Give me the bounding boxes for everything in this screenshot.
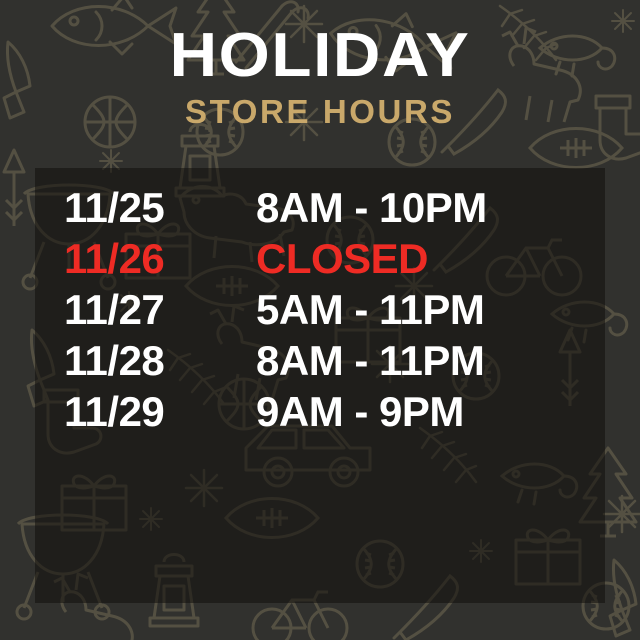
- row-hours: 5AM - 11PM: [256, 286, 484, 334]
- poster-header: HOLIDAY STORE HOURS: [0, 0, 640, 130]
- row-date: 11/26: [64, 235, 256, 283]
- row-date: 11/28: [64, 337, 256, 385]
- row-hours-closed: CLOSED: [256, 235, 428, 283]
- table-row: 11/26 CLOSED: [0, 235, 640, 286]
- holiday-store-hours-poster: HOLIDAY STORE HOURS 11/25 8AM - 10PM 11/…: [0, 0, 640, 640]
- page-subtitle: STORE HOURS: [0, 94, 640, 130]
- row-date: 11/25: [64, 184, 256, 232]
- row-hours: 8AM - 10PM: [256, 184, 487, 232]
- table-row: 11/29 9AM - 9PM: [0, 388, 640, 439]
- row-hours: 9AM - 9PM: [256, 388, 464, 436]
- hours-table: 11/25 8AM - 10PM 11/26 CLOSED 11/27 5AM …: [0, 168, 640, 603]
- row-date: 11/27: [64, 286, 256, 334]
- table-row: 11/28 8AM - 11PM: [0, 337, 640, 388]
- row-date: 11/29: [64, 388, 256, 436]
- page-title: HOLIDAY: [0, 26, 640, 87]
- table-row: 11/27 5AM - 11PM: [0, 286, 640, 337]
- row-hours: 8AM - 11PM: [256, 337, 484, 385]
- table-row: 11/25 8AM - 10PM: [0, 184, 640, 235]
